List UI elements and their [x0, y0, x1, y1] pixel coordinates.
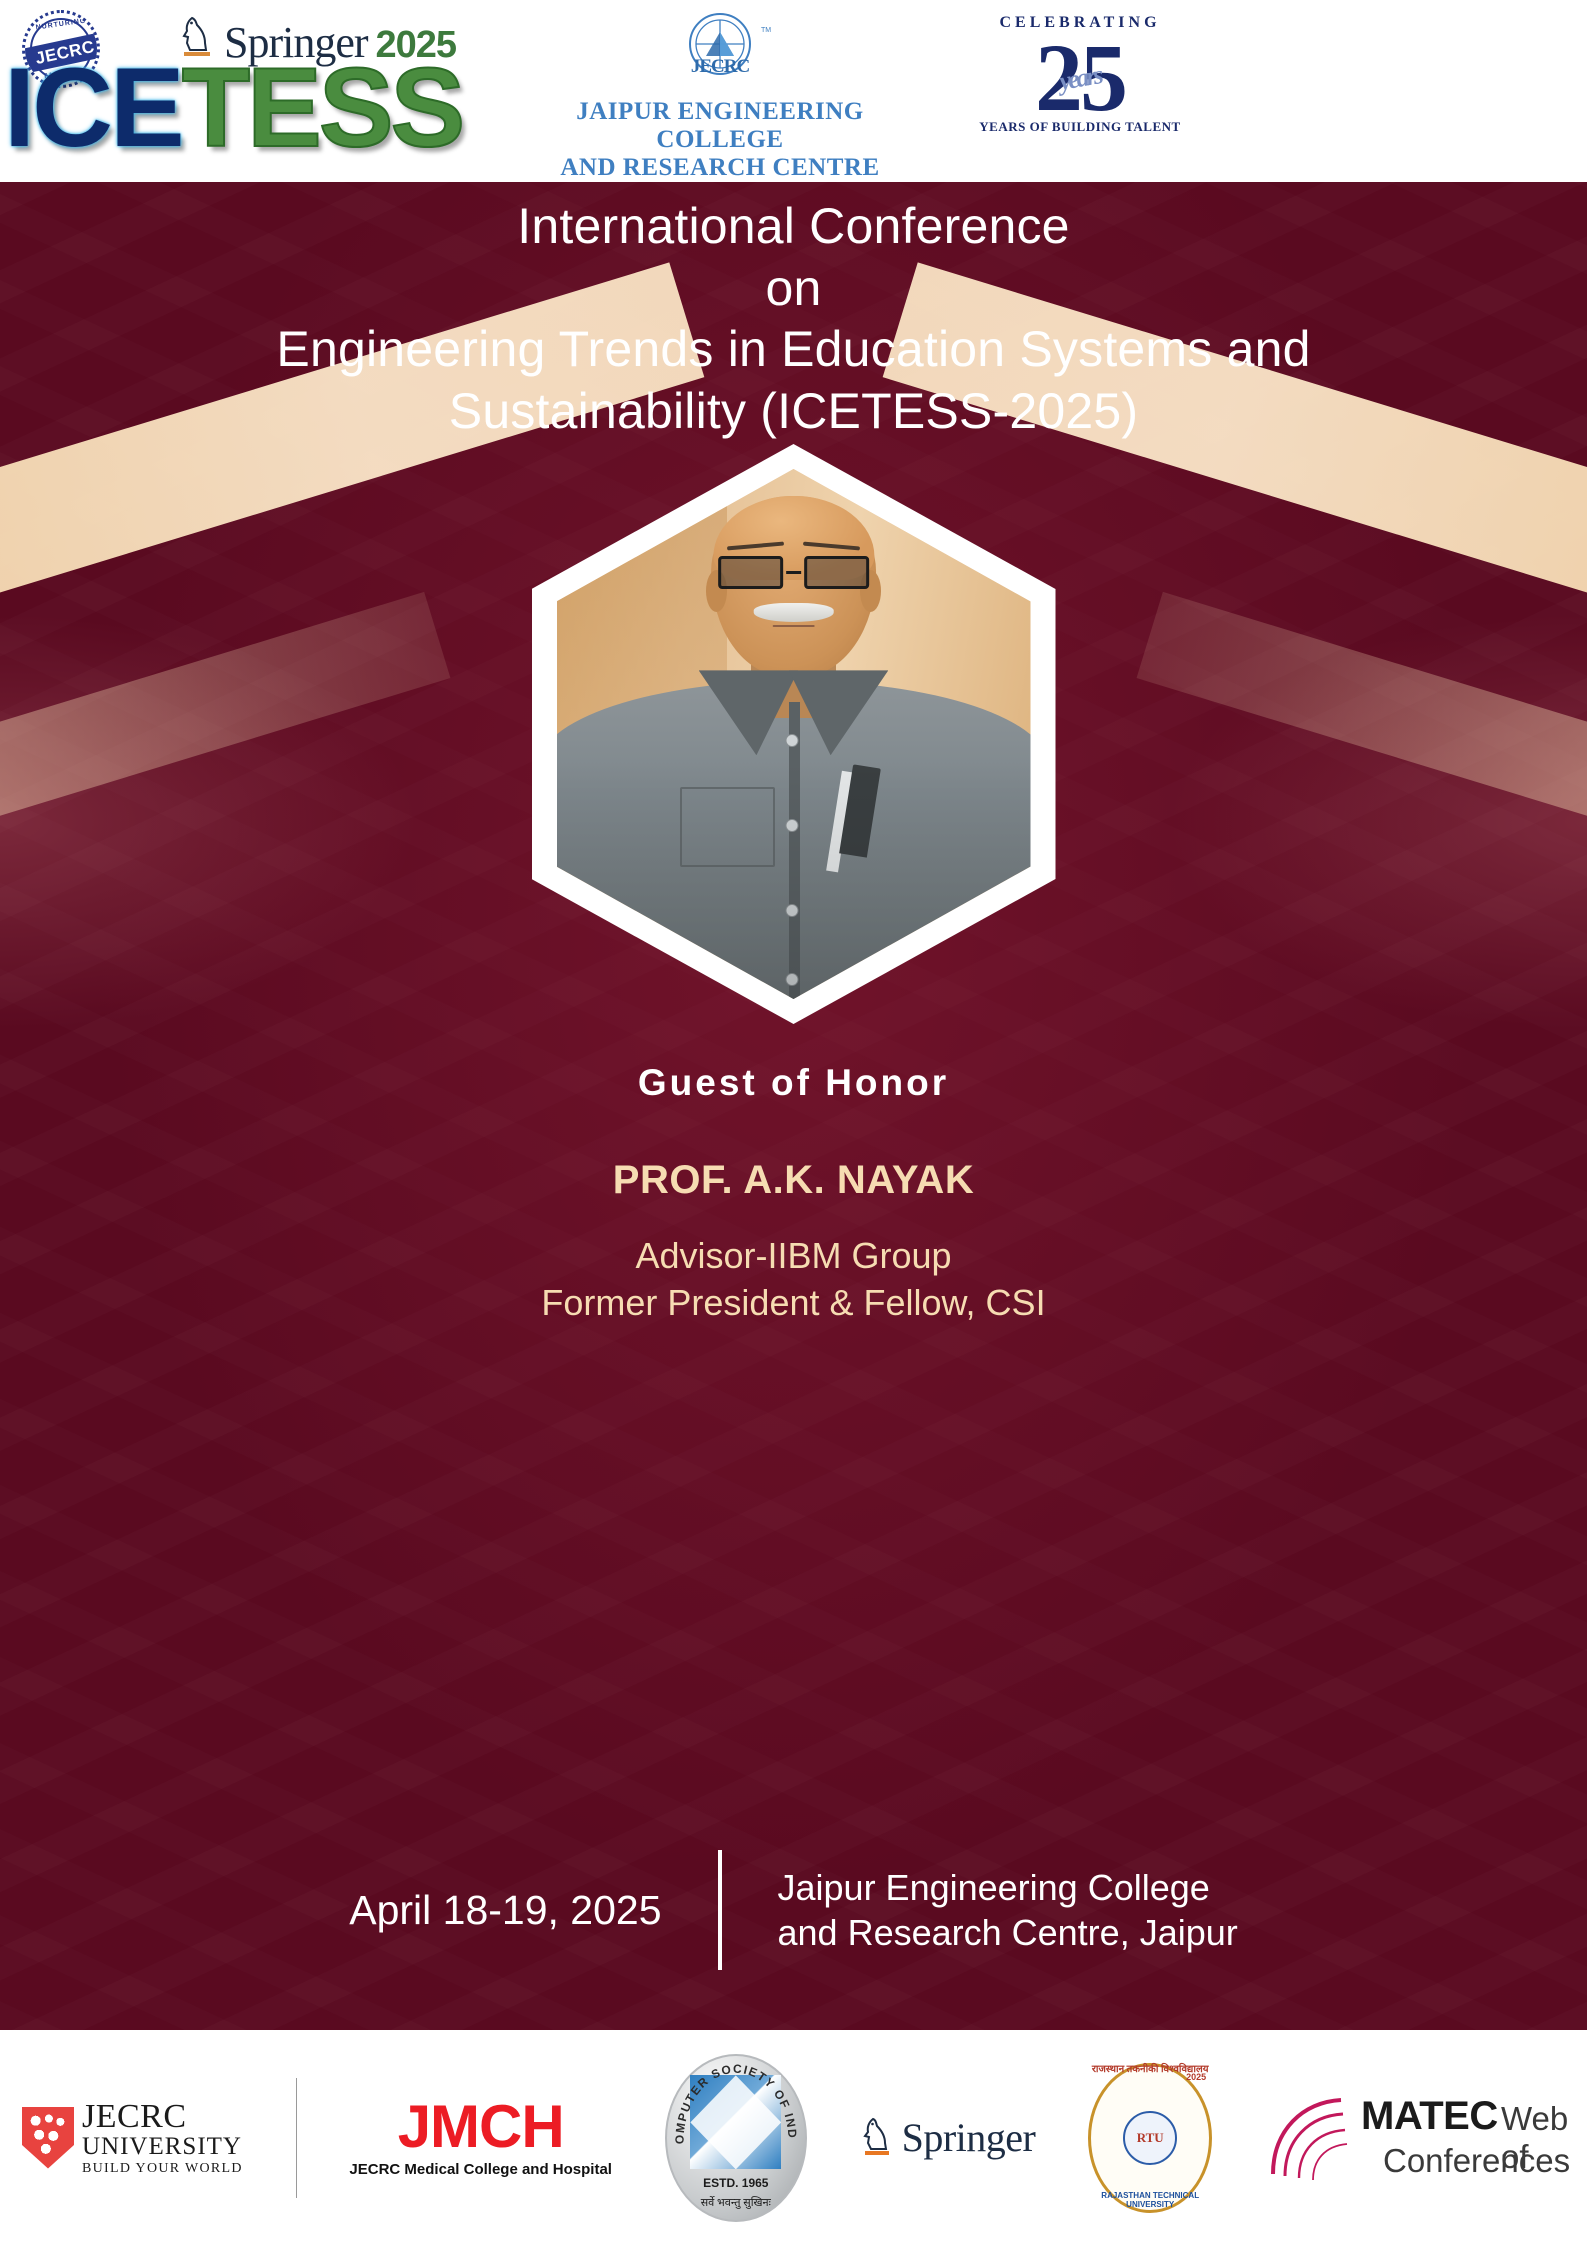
speaker-photo [557, 469, 1031, 999]
sponsor-strip: JECRC UNIVERSITY BUILD YOUR WORLD JMCH J… [0, 2030, 1587, 2245]
matec-word2: Conferences [1383, 2142, 1570, 2180]
title-line-3: Engineering Trends in Education Systems … [0, 319, 1587, 381]
poster-main: International Conference on Engineering … [0, 182, 1587, 2030]
acronym-tess: TESS [182, 45, 463, 170]
sponsor-jecrc-university: JECRC UNIVERSITY BUILD YOUR WORLD [22, 2100, 243, 2176]
springer-wordmark: Springer [902, 2114, 1036, 2161]
sponsor-rtu: राजस्थान तकनीकी विश्वविद्यालय 2025 RTU R… [1088, 2063, 1212, 2213]
jecrc-university-shield-icon [22, 2107, 74, 2169]
title-line-1: International Conference [0, 196, 1587, 258]
sponsor-matec: MATEC Web of Conferences [1265, 2078, 1565, 2198]
matec-swirl-icon [1265, 2090, 1365, 2186]
vertical-divider [718, 1850, 722, 1970]
venue-line1: Jaipur Engineering College [778, 1865, 1238, 1910]
anniversary-number: 25 years [1035, 32, 1125, 123]
svg-text:JECRC: JECRC [691, 56, 750, 77]
poster-header: NURTURING JECRC TALENT Springer 2025 ICE… [0, 0, 1587, 182]
jmch-acronym: JMCH [398, 2097, 564, 2157]
jecrc-college-logo-block: JECRC TM JAIPUR ENGINEERING COLLEGE AND … [520, 6, 920, 182]
event-date: April 18-19, 2025 [349, 1887, 661, 1934]
college-name-line2: AND RESEARCH CENTRE [520, 154, 920, 182]
jecrc-university-name: JECRC [82, 2100, 243, 2134]
event-venue: Jaipur Engineering College and Research … [778, 1865, 1238, 1956]
icetess-acronym: ICETESS [4, 52, 462, 164]
rtu-emblem-icon: RTU [1123, 2111, 1177, 2165]
title-line-4: Sustainability (ICETESS-2025) [0, 381, 1587, 443]
icetess-logo-block: NURTURING JECRC TALENT Springer 2025 ICE… [0, 0, 520, 182]
guest-name: PROF. A.K. NAYAK [0, 1158, 1587, 1203]
conference-title: International Conference on Engineering … [0, 196, 1587, 442]
jmch-full-name: JECRC Medical College and Hospital [349, 2161, 612, 2178]
jecrc-university-tagline: BUILD YOUR WORLD [82, 2162, 243, 2176]
conference-poster: NURTURING JECRC TALENT Springer 2025 ICE… [0, 0, 1587, 2245]
guest-of-honor-label: Guest of Honor [0, 1062, 1587, 1104]
venue-line2: and Research Centre, Jaipur [778, 1910, 1238, 1955]
sponsor-csi: COMPUTER SOCIETY OF INDIA ESTD. 1965 सर्… [665, 2054, 807, 2222]
csi-arc-text: COMPUTER SOCIETY OF INDIA [665, 2060, 807, 2215]
acronym-ice: ICE [4, 45, 182, 170]
event-details: April 18-19, 2025 Jaipur Engineering Col… [0, 1850, 1587, 1970]
svg-text:COMPUTER SOCIETY OF INDIA: COMPUTER SOCIETY OF INDIA [665, 2060, 799, 2144]
jecrc-university-type: UNIVERSITY [82, 2134, 243, 2159]
college-name: JAIPUR ENGINEERING COLLEGE AND RESEARCH … [520, 98, 920, 182]
guest-role-line2: Former President & Fellow, CSI [0, 1280, 1587, 1327]
knight-chess-icon [860, 2114, 894, 2162]
svg-text:TM: TM [761, 27, 771, 34]
guest-of-honor-section: Guest of Honor PROF. A.K. NAYAK Advisor-… [0, 1062, 1587, 1327]
sponsor-springer: Springer [860, 2114, 1036, 2162]
csi-motto: सर्वे भवन्तु सुखिनः [665, 2195, 807, 2210]
sponsor-divider [296, 2078, 297, 2198]
jecrc-emblem-icon: JECRC TM [666, 10, 774, 94]
matec-brand: MATEC [1361, 2094, 1498, 2139]
rtu-year: 2025 [1186, 2072, 1206, 2082]
college-name-line1: JAIPUR ENGINEERING COLLEGE [520, 98, 920, 154]
anniversary-logo-block: CELEBRATING 25 years YEARS OF BUILDING T… [930, 10, 1230, 182]
guest-role-line1: Advisor-IIBM Group [0, 1233, 1587, 1280]
title-line-2: on [0, 258, 1587, 320]
rtu-english-name: RAJASTHAN TECHNICAL UNIVERSITY [1088, 2191, 1212, 2209]
sponsor-jmch: JMCH JECRC Medical College and Hospital [349, 2097, 612, 2178]
csi-established: ESTD. 1965 [665, 2176, 807, 2190]
